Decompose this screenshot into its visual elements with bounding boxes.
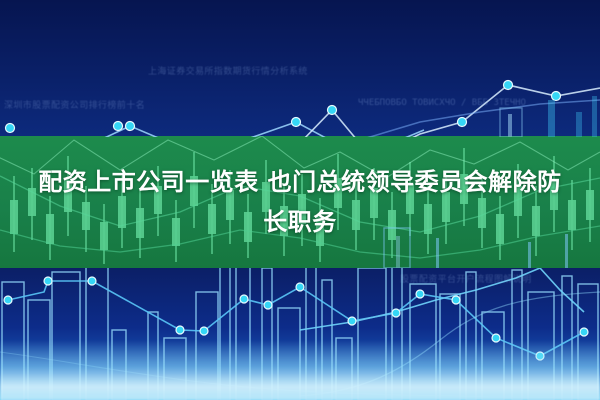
chart-data-point [392,309,400,317]
chart-data-point [6,124,15,133]
chart-data-point [348,317,356,325]
chart-data-point [328,106,337,115]
chart-data-point [292,118,301,127]
chart-data-point [88,277,96,285]
chart-data-point [504,81,513,90]
chart-data-point [552,92,561,101]
chart-data-point [264,301,272,309]
watermark-text: 股票配资平台开户流程图解说明 [400,272,532,285]
chart-data-point [458,118,467,127]
chart-data-point [240,295,248,303]
chart-data-point [416,290,424,298]
banner-image: 深圳市股票配资公司排行榜前十名 上海证券交易所指数期货行情分析系统 ЧЧЕБПО… [0,0,600,400]
chart-data-point [580,328,588,336]
chart-data-point [4,296,12,304]
watermark-text: ЧЧЕБПОВБО ТОВИСХЧО / ВББ ЗТЕЧНО [358,98,526,108]
bottom-light-glow [0,340,600,400]
headline-block: 配资上市公司一览表 也门总统领导委员会解除防 长职务 [0,136,600,268]
chart-data-point [126,122,135,131]
page-title: 配资上市公司一览表 也门总统领导委员会解除防 [24,162,575,202]
watermark-text: 深圳市股票配资公司排行榜前十名 [4,98,145,111]
chart-data-point [296,283,304,291]
watermark-text: 上海证券交易所指数期货行情分析系统 [148,64,308,77]
chart-data-point [176,326,184,334]
page-title-line-2: 长职务 [263,202,337,242]
chart-data-point [114,122,123,131]
chart-data-point [452,296,460,304]
chart-data-point [200,327,208,335]
chart-data-point [44,277,52,285]
